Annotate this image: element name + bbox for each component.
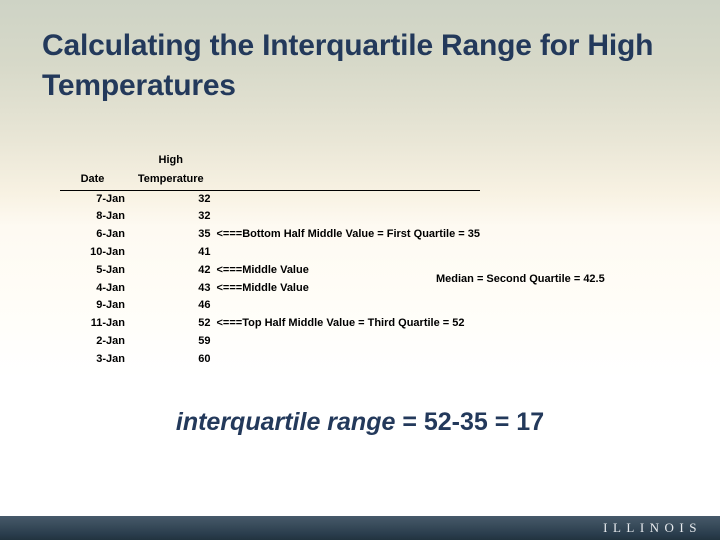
table-head: High Date Temperature	[60, 152, 480, 190]
header-spacer	[60, 152, 125, 171]
cell-date: 5-Jan	[60, 262, 125, 280]
median-annotation: Median = Second Quartile = 42.5	[436, 273, 605, 285]
cell-annotation-third-quartile: <===Top Half Middle Value = Third Quarti…	[217, 317, 465, 329]
header-note-spacer	[217, 152, 481, 171]
header-high: High	[125, 152, 217, 171]
cell-temperature: 42	[125, 262, 217, 280]
cell-temperature: 41	[125, 244, 217, 262]
conclusion-term: interquartile range	[176, 408, 396, 436]
table-header-row: Date Temperature	[60, 171, 480, 190]
conclusion-equation: = 52-35 = 17	[395, 408, 544, 436]
cell-temperature: 46	[125, 297, 217, 315]
illinois-wordmark: ILLINOIS	[603, 520, 702, 536]
cell-date: 6-Jan	[60, 226, 125, 244]
cell-annotation-middle-value: <===Middle Value	[217, 264, 309, 276]
cell-date: 7-Jan	[60, 190, 125, 208]
column-header-temperature: Temperature	[125, 171, 217, 190]
cell-temperature: 35	[125, 226, 217, 244]
table-row: 2-Jan 59	[60, 333, 480, 351]
cell-temperature: 32	[125, 190, 217, 208]
table-row: 3-Jan 60	[60, 351, 480, 369]
table-row: 10-Jan 41	[60, 244, 480, 262]
cell-annotation-first-quartile: <===Bottom Half Middle Value = First Qua…	[217, 228, 480, 240]
cell-temperature: 60	[125, 351, 217, 369]
cell-date: 11-Jan	[60, 315, 125, 333]
cell-temperature: 43	[125, 280, 217, 298]
cell-date: 4-Jan	[60, 280, 125, 298]
cell-temperature: 52	[125, 315, 217, 333]
cell-date: 3-Jan	[60, 351, 125, 369]
column-header-note	[217, 171, 481, 190]
table-row: 4-Jan 43 <===Middle Value	[60, 280, 480, 298]
table-row: 7-Jan 32	[60, 190, 480, 208]
table-row: 6-Jan 35 <===Bottom Half Middle Value = …	[60, 226, 480, 244]
page-title: Calculating the Interquartile Range for …	[42, 26, 662, 106]
conclusion-line: interquartile range = 52-35 = 17	[0, 408, 720, 437]
cell-date: 10-Jan	[60, 244, 125, 262]
temperature-table: High Date Temperature 7-Jan 32 8-Jan 32	[60, 152, 480, 369]
footer-bar: ILLINOIS	[0, 516, 720, 540]
cell-date: 8-Jan	[60, 208, 125, 226]
table-row: 11-Jan 52 <===Top Half Middle Value = Th…	[60, 315, 480, 333]
table-row: 8-Jan 32	[60, 208, 480, 226]
cell-temperature: 59	[125, 333, 217, 351]
table-header-top-row: High	[60, 152, 480, 171]
cell-annotation-middle-value: <===Middle Value	[217, 282, 309, 294]
temperature-table-block: High Date Temperature 7-Jan 32 8-Jan 32	[60, 152, 480, 369]
cell-date: 2-Jan	[60, 333, 125, 351]
cell-temperature: 32	[125, 208, 217, 226]
table-body: 7-Jan 32 8-Jan 32 6-Jan 35 <===Bottom Ha…	[60, 190, 480, 368]
table-row: 9-Jan 46	[60, 297, 480, 315]
column-header-date: Date	[60, 171, 125, 190]
slide: Calculating the Interquartile Range for …	[0, 0, 720, 540]
cell-date: 9-Jan	[60, 297, 125, 315]
table-row: 5-Jan 42 <===Middle Value	[60, 262, 480, 280]
